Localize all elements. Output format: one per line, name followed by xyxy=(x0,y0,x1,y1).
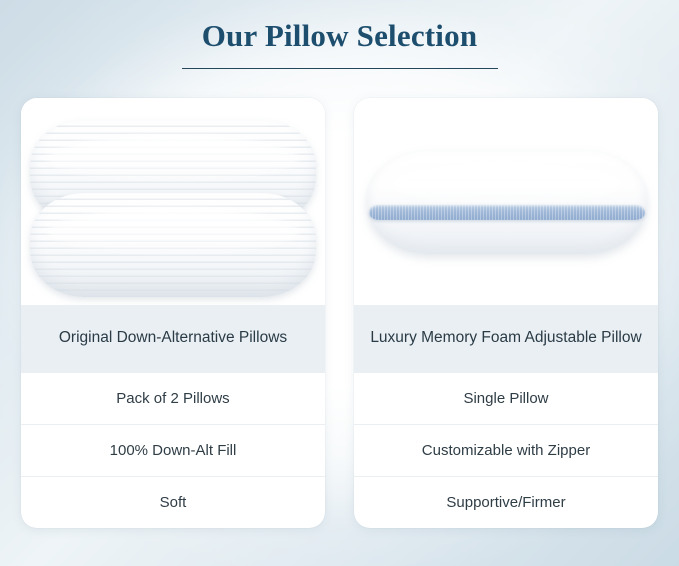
product-name: Luxury Memory Foam Adjustable Pillow xyxy=(354,305,658,372)
product-card-down-alternative[interactable]: Original Down-Alternative Pillows Pack o… xyxy=(21,98,325,528)
spec-row: Customizable with Zipper xyxy=(354,424,658,476)
spec-row: 100% Down-Alt Fill xyxy=(21,424,325,476)
spec-row: Pack of 2 Pillows xyxy=(21,372,325,424)
pillow-bottom-icon xyxy=(30,193,316,297)
page-title: Our Pillow Selection xyxy=(0,18,679,55)
title-divider xyxy=(182,68,498,70)
spec-row: Soft xyxy=(21,476,325,528)
comparison-page: Our Pillow Selection Original Down-Alter… xyxy=(0,0,679,566)
pillow-body-icon xyxy=(367,151,647,254)
pillow-gusset-band-icon xyxy=(369,205,645,220)
page-header: Our Pillow Selection xyxy=(0,18,679,69)
spec-row: Supportive/Firmer xyxy=(354,476,658,528)
product-card-memory-foam[interactable]: Luxury Memory Foam Adjustable Pillow Sin… xyxy=(354,98,658,528)
product-card-list: Original Down-Alternative Pillows Pack o… xyxy=(21,98,658,528)
product-name: Original Down-Alternative Pillows xyxy=(21,305,325,372)
pillow-stack-graphic xyxy=(21,98,325,305)
product-image-memory-foam xyxy=(354,98,658,305)
memory-foam-pillow-graphic xyxy=(354,98,658,305)
product-image-down-alternative xyxy=(21,98,325,305)
spec-row: Single Pillow xyxy=(354,372,658,424)
